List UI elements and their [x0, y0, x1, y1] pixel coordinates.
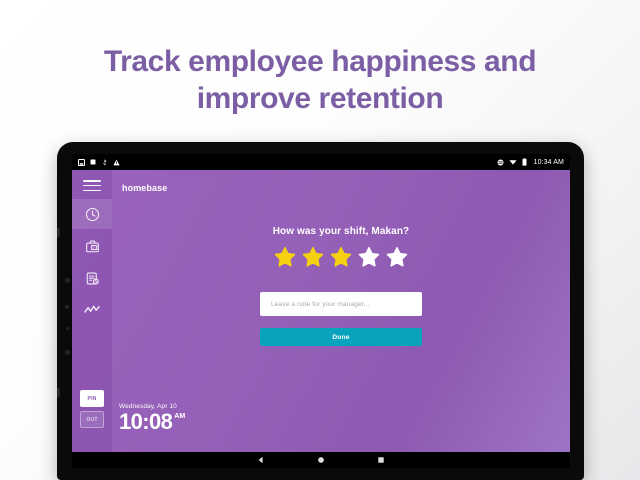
tablet-screen: 10:34 AM: [72, 154, 570, 468]
promo-screenshot: Track employee happiness and improve ret…: [0, 0, 640, 480]
tablet-device-frame: 10:34 AM: [57, 142, 584, 480]
sidebar-badges: PIN OUT: [80, 390, 104, 428]
bezel-port-bottom: [57, 388, 60, 397]
warning-icon: [113, 159, 120, 166]
sync-icon: [497, 159, 504, 166]
status-bar: 10:34 AM: [72, 154, 570, 170]
stop-icon: [90, 159, 96, 165]
recents-icon[interactable]: [377, 456, 385, 464]
menu-bar: [83, 180, 101, 182]
star-icon-filled[interactable]: [330, 246, 352, 268]
battery-icon: [522, 158, 527, 166]
status-bar-system: 10:34 AM: [497, 158, 564, 166]
clock-widget: Wednesday, Apr 10 10:08 AM: [119, 403, 185, 432]
clock-icon: [85, 207, 100, 222]
document-icon: [85, 271, 100, 286]
back-icon[interactable]: [257, 456, 265, 464]
microphone-icon: [65, 350, 70, 355]
page-title: Track employee happiness and improve ret…: [0, 44, 640, 117]
clock-time: 10:08 AM: [119, 412, 185, 432]
menu-bar: [83, 190, 101, 192]
clock-date: Wednesday, Apr 10: [119, 403, 185, 410]
camera-icon: [65, 278, 70, 283]
bluetooth-icon: [101, 159, 108, 166]
headline-line-2: improve retention: [0, 81, 640, 118]
star-icon-empty[interactable]: [358, 246, 380, 268]
screenshot-icon: [78, 159, 85, 166]
menu-bar: [83, 185, 101, 187]
trending-icon: [84, 304, 100, 316]
clock-hours-minutes: 10:08: [119, 412, 172, 432]
note-placeholder-text: Leave a note for your manager...: [271, 301, 370, 308]
star-icon-filled[interactable]: [302, 246, 324, 268]
star-icon-empty[interactable]: [386, 246, 408, 268]
sidebar-item-reports[interactable]: [72, 295, 112, 325]
android-nav-bar: [72, 452, 570, 468]
sidebar-item-time-clock[interactable]: [72, 199, 112, 229]
sensor-icon: [65, 305, 69, 309]
status-bar-clock: 10:34 AM: [534, 159, 564, 166]
manager-note-input[interactable]: Leave a note for your manager...: [260, 292, 422, 316]
bezel-port-top: [57, 228, 60, 237]
app-sidebar: PIN OUT: [72, 170, 112, 452]
briefcase-icon: [85, 239, 100, 254]
star-icon-filled[interactable]: [274, 246, 296, 268]
headline-line-1: Track employee happiness and: [0, 44, 640, 81]
home-icon[interactable]: [317, 456, 325, 464]
shift-survey-panel: How was your shift, Makan?: [112, 170, 570, 452]
star-rating[interactable]: [112, 246, 570, 268]
led-icon: [66, 327, 69, 330]
survey-question: How was your shift, Makan?: [112, 226, 570, 237]
homebase-app: PIN OUT homebase How was your shift, Mak…: [72, 170, 570, 452]
sidebar-item-timesheets[interactable]: [72, 263, 112, 293]
wifi-icon: [509, 159, 517, 165]
menu-icon[interactable]: [83, 180, 101, 192]
status-bar-notifications: [78, 159, 120, 166]
sidebar-item-shifts[interactable]: [72, 231, 112, 261]
done-button[interactable]: Done: [260, 328, 422, 346]
out-badge[interactable]: OUT: [80, 411, 104, 428]
clock-meridiem: AM: [174, 413, 185, 420]
pin-badge[interactable]: PIN: [80, 390, 104, 407]
done-button-label: Done: [332, 334, 349, 341]
